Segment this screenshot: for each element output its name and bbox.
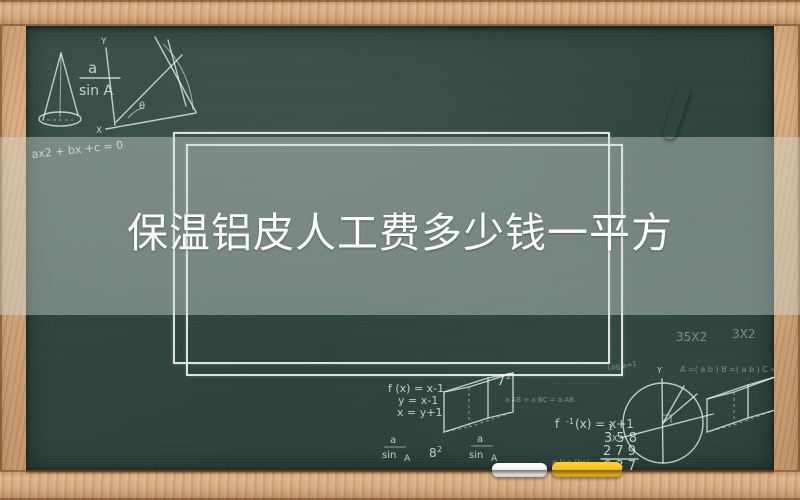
- svg-text:1: 1: [608, 423, 613, 432]
- svg-text:a: a: [88, 59, 97, 77]
- svg-text:3 5 8: 3 5 8: [604, 431, 637, 446]
- svg-text:Y: Y: [656, 366, 662, 375]
- svg-text:X: X: [96, 126, 102, 136]
- svg-text:a: a: [477, 434, 483, 445]
- multiplication-35x2: 35X2: [676, 330, 707, 344]
- cube-wireframe-right: [707, 377, 774, 432]
- angle-arc-diagram: Y X θ: [96, 37, 196, 136]
- svg-text:x = y+1: x = y+1: [397, 406, 442, 419]
- svg-text:Y: Y: [100, 37, 107, 47]
- svg-text:sin: sin: [382, 450, 396, 461]
- inverse-function: f: [555, 417, 560, 431]
- fraction-a-over-sinA-3: a sin A: [469, 434, 498, 464]
- circle-diagram: Y X: [612, 366, 713, 463]
- blackboard-banner: .ck { fill:none; stroke:#e9efec; stroke-…: [0, 0, 800, 500]
- fraction-a-over-sinA: a sin A: [79, 59, 120, 99]
- function-equations: f (x) = x-1 y = x-1 x = y+1: [388, 382, 444, 419]
- eight-squared: 8: [429, 446, 437, 460]
- svg-text:2 7 9: 2 7 9: [603, 444, 636, 459]
- cube-wireframe-left: [444, 373, 513, 432]
- svg-text:2: 2: [437, 445, 442, 454]
- fraction-a-over-sinA-2: a sin A: [382, 435, 411, 464]
- wooden-frame-top-rail: [0, 0, 800, 26]
- svg-text:X: X: [612, 434, 618, 443]
- svg-text:f (x) = x-1: f (x) = x-1: [388, 382, 444, 395]
- svg-text:sin A: sin A: [79, 83, 114, 99]
- svg-text:a: a: [390, 435, 396, 446]
- svg-text:θ: θ: [139, 101, 145, 112]
- wooden-frame-bottom-rail: [0, 470, 800, 500]
- svg-text:sin: sin: [469, 450, 483, 461]
- cone-drawing: [39, 53, 81, 126]
- seven-squared: 7: [497, 374, 505, 389]
- faint-expression: a AB + a BC = a AB: [505, 396, 574, 404]
- inner-white-rectangle: [186, 144, 623, 376]
- multiplication-3x2: 3X2: [732, 327, 756, 341]
- quadratic-equation: ax2 + bx +c = 0: [31, 138, 124, 161]
- blackboard-bottom-lip: [26, 470, 774, 474]
- page-title: 保温铝皮人工费多少钱一平方: [0, 213, 800, 254]
- svg-text:y = x-1: y = x-1: [398, 394, 438, 407]
- svg-text:A: A: [404, 454, 411, 464]
- svg-text:-1: -1: [566, 417, 574, 426]
- svg-text:(x) = x+1: (x) = x+1: [575, 417, 634, 431]
- matrix-notation: A =( a b ) B =( a b ) C =( a b ): [680, 365, 774, 374]
